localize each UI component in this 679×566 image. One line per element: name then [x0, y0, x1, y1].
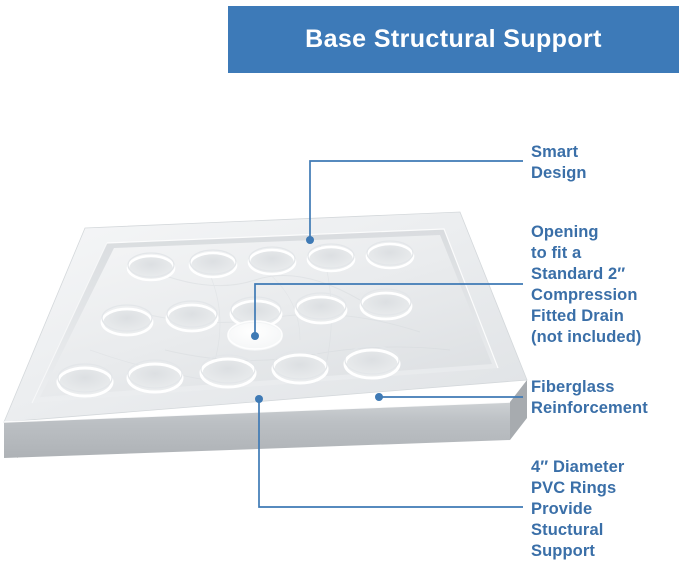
drain-opening [228, 321, 282, 350]
pvc-ring [128, 253, 174, 280]
pvc-ring [308, 244, 354, 271]
shower-base-illustration [0, 200, 540, 500]
infographic-page: Base Structural Support [0, 0, 679, 566]
pvc-ring [367, 241, 413, 268]
pvc-ring [249, 247, 295, 274]
pvc-ring [190, 250, 236, 277]
callout-label-fiberglass: Fiberglass Reinforcement [531, 377, 648, 419]
callout-label-drain-opening: Opening to fit a Standard 2″ Compression… [531, 222, 641, 348]
header-banner: Base Structural Support [228, 6, 679, 73]
callout-label-pvc-rings: 4″ Diameter PVC Rings Provide Stuctural … [531, 457, 624, 562]
page-title: Base Structural Support [228, 25, 679, 54]
callout-label-smart-design: Smart Design [531, 142, 587, 184]
